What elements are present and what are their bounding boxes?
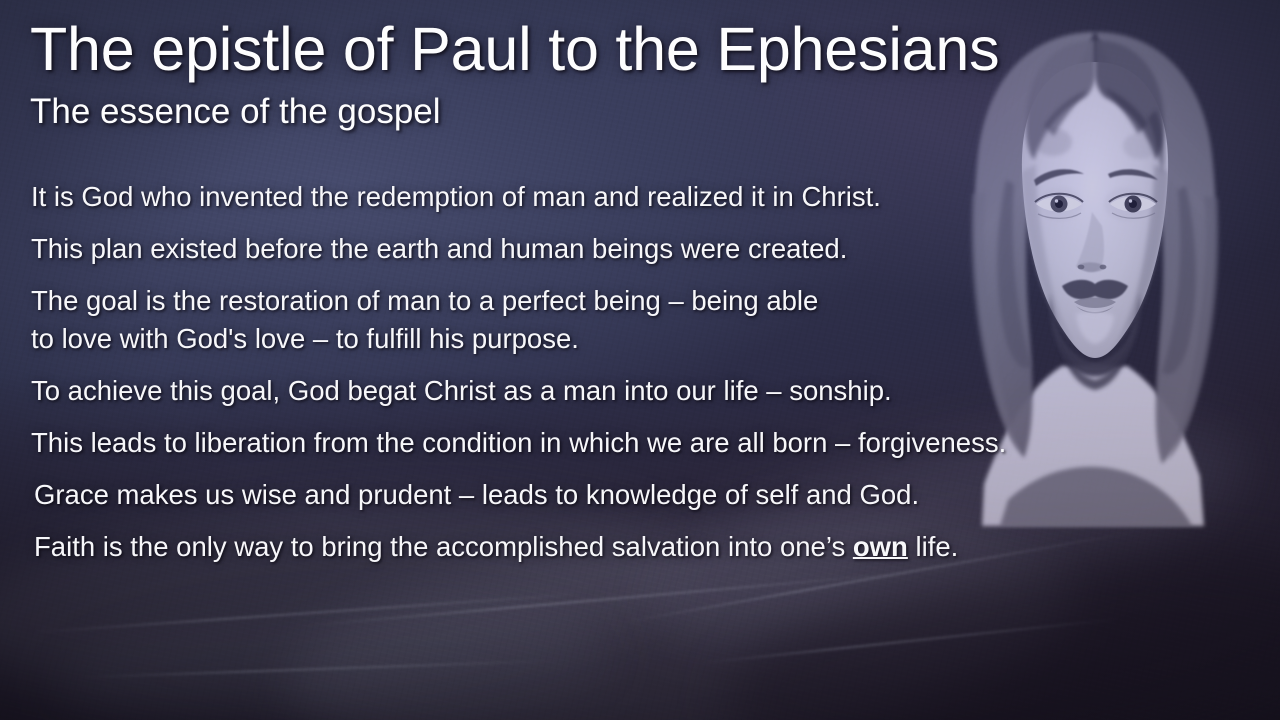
body-paragraph-5: This leads to liberation from the condit… [31, 424, 1041, 462]
body-paragraph-7-prefix: Faith is the only way to bring the accom… [34, 531, 853, 562]
slide-body: It is God who invented the redemption of… [31, 178, 1041, 580]
body-paragraph-7-emphasis: own [853, 531, 908, 562]
body-paragraph-4: To achieve this goal, God begat Christ a… [31, 372, 1041, 410]
background-streak [80, 660, 560, 679]
body-paragraph-3: The goal is the restoration of man to a … [31, 282, 1041, 358]
presentation-slide: The epistle of Paul to the Ephesians The… [0, 0, 1280, 720]
background-brush-sweep [48, 590, 617, 720]
body-paragraph-1: It is God who invented the redemption of… [31, 178, 1041, 216]
body-paragraph-7-suffix: life. [908, 531, 958, 562]
body-paragraph-6: Grace makes us wise and prudent – leads … [31, 476, 1041, 514]
background-streak [31, 592, 590, 633]
body-paragraph-7: Faith is the only way to bring the accom… [31, 528, 1041, 566]
body-paragraph-3-line-1: The goal is the restoration of man to a … [31, 282, 1041, 320]
background-streak [701, 618, 1119, 664]
slide-subtitle: The essence of the gospel [30, 92, 441, 132]
slide-title: The epistle of Paul to the Ephesians [30, 14, 999, 84]
body-paragraph-3-line-2: to love with God's love – to fulfill his… [31, 320, 1041, 358]
body-paragraph-2: This plan existed before the earth and h… [31, 230, 1041, 268]
